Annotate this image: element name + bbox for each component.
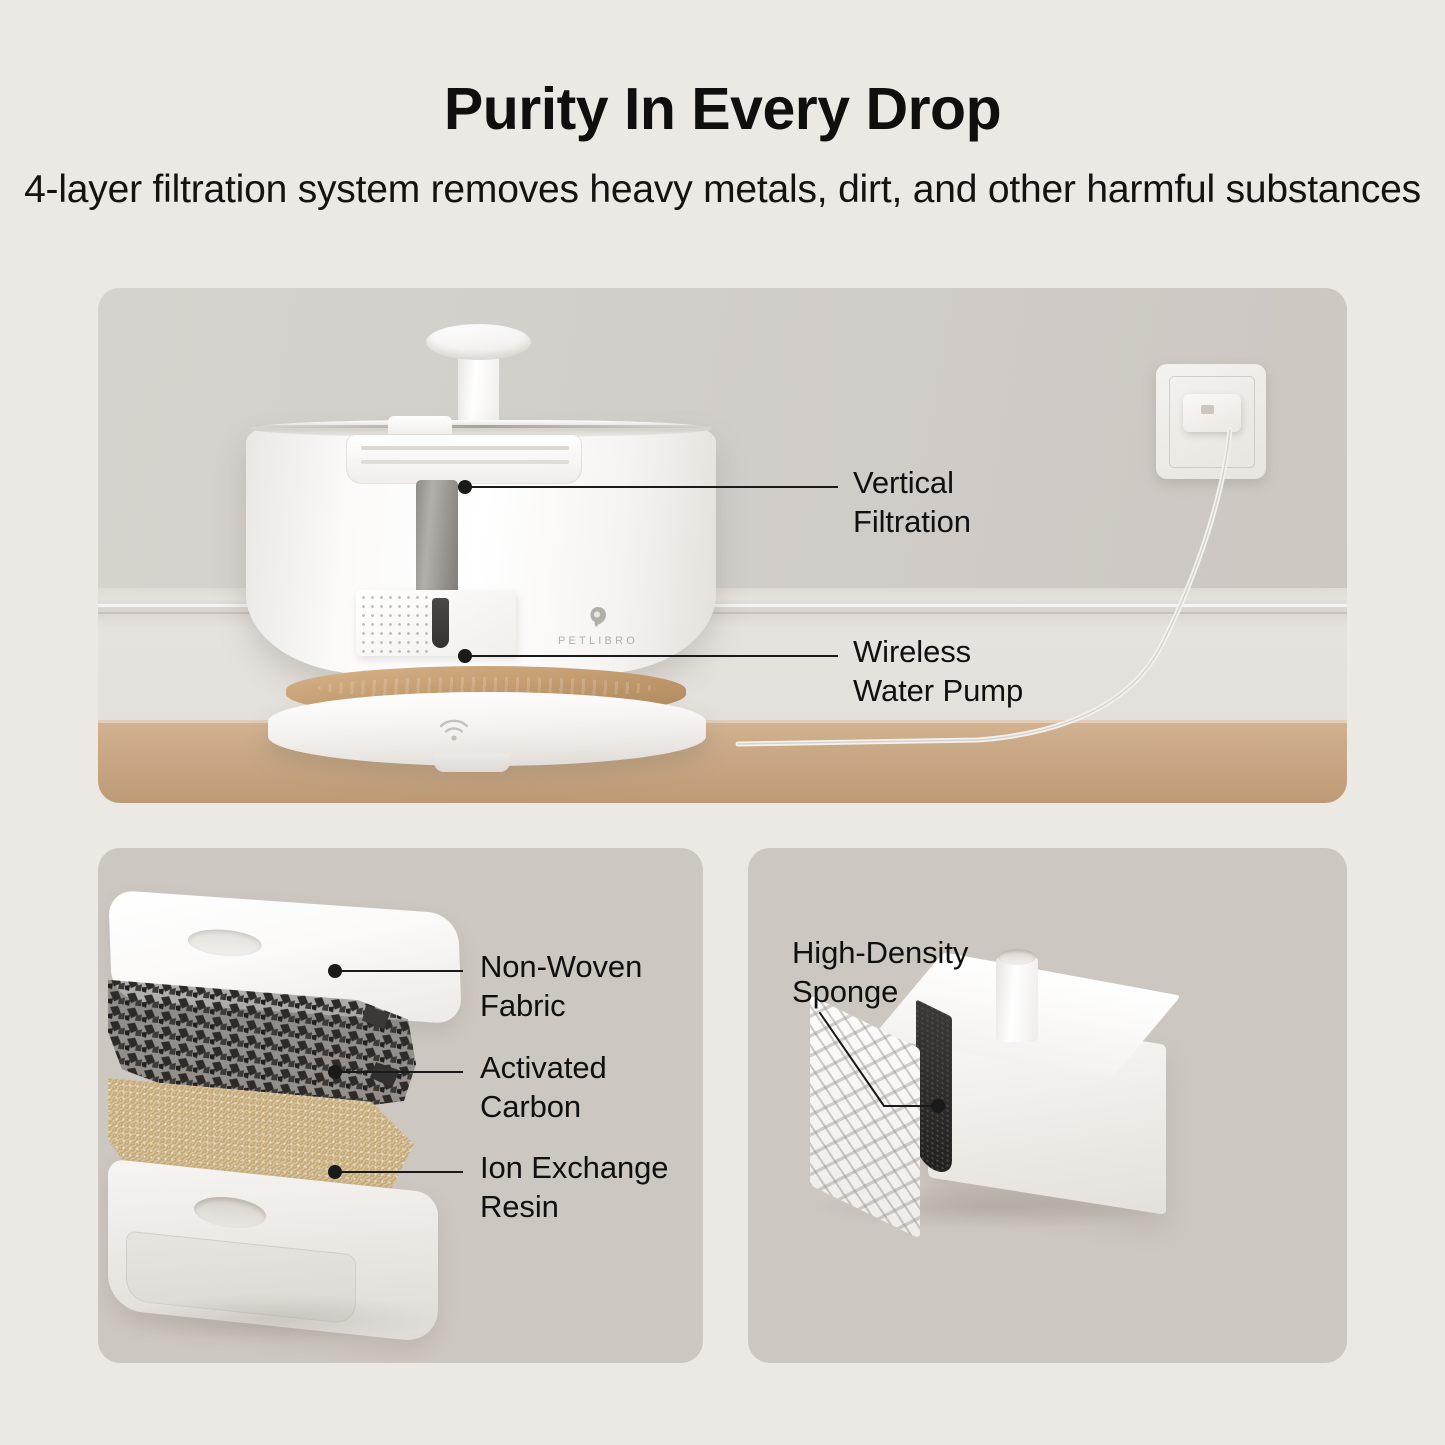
panel-sponge-pump: High-Density Sponge (748, 848, 1347, 1363)
callout-label-ion-exchange-resin: Ion Exchange Resin (480, 1149, 668, 1227)
pump-sponge-strip (432, 598, 449, 648)
filter-drop-shadow (108, 1294, 438, 1344)
tray-center-hole (194, 1194, 266, 1232)
panel-fountain-overview: PETLIBRO Vertical Filtration Wireless Wa… (98, 288, 1347, 803)
fountain-base-foot (434, 754, 510, 772)
callout-label-non-woven-fabric: Non-Woven Fabric (480, 948, 642, 1026)
vertical-filter-tray (346, 434, 582, 484)
fabric-center-hole (187, 927, 262, 958)
page-title: Purity In Every Drop (0, 78, 1445, 142)
bowl-rim-highlight (254, 425, 708, 428)
spout-cup (426, 324, 531, 360)
callout-label-wireless-water-pump: Wireless Water Pump (853, 633, 1023, 711)
wireless-pump-module (356, 590, 516, 656)
header: Purity In Every Drop 4-layer filtration … (0, 0, 1445, 217)
pump-grille (356, 590, 428, 656)
petlibro-droplet-paw-icon (585, 604, 611, 630)
callout-label-high-density-sponge: High-Density Sponge (792, 934, 968, 1012)
callout-label-activated-carbon: Activated Carbon (480, 1049, 607, 1127)
wifi-icon (434, 714, 474, 744)
exploded-filter-stack (108, 880, 468, 1350)
sponge-pump-assembly (748, 848, 1347, 1363)
callout-label-vertical-filtration: Vertical Filtration (853, 464, 971, 542)
high-density-sponge-strip (916, 999, 952, 1179)
power-plug (1183, 394, 1241, 432)
panel-filter-layers: Non-Woven Fabric Activated Carbon Ion Ex… (98, 848, 703, 1363)
page-subtitle: 4-layer filtration system removes heavy … (0, 162, 1445, 217)
brand-logo: PETLIBRO (538, 604, 658, 662)
brand-logo-text: PETLIBRO (538, 635, 658, 647)
fountain-spout (426, 324, 531, 429)
pump-outlet-nozzle (996, 956, 1038, 1042)
water-fountain: PETLIBRO (238, 316, 758, 796)
